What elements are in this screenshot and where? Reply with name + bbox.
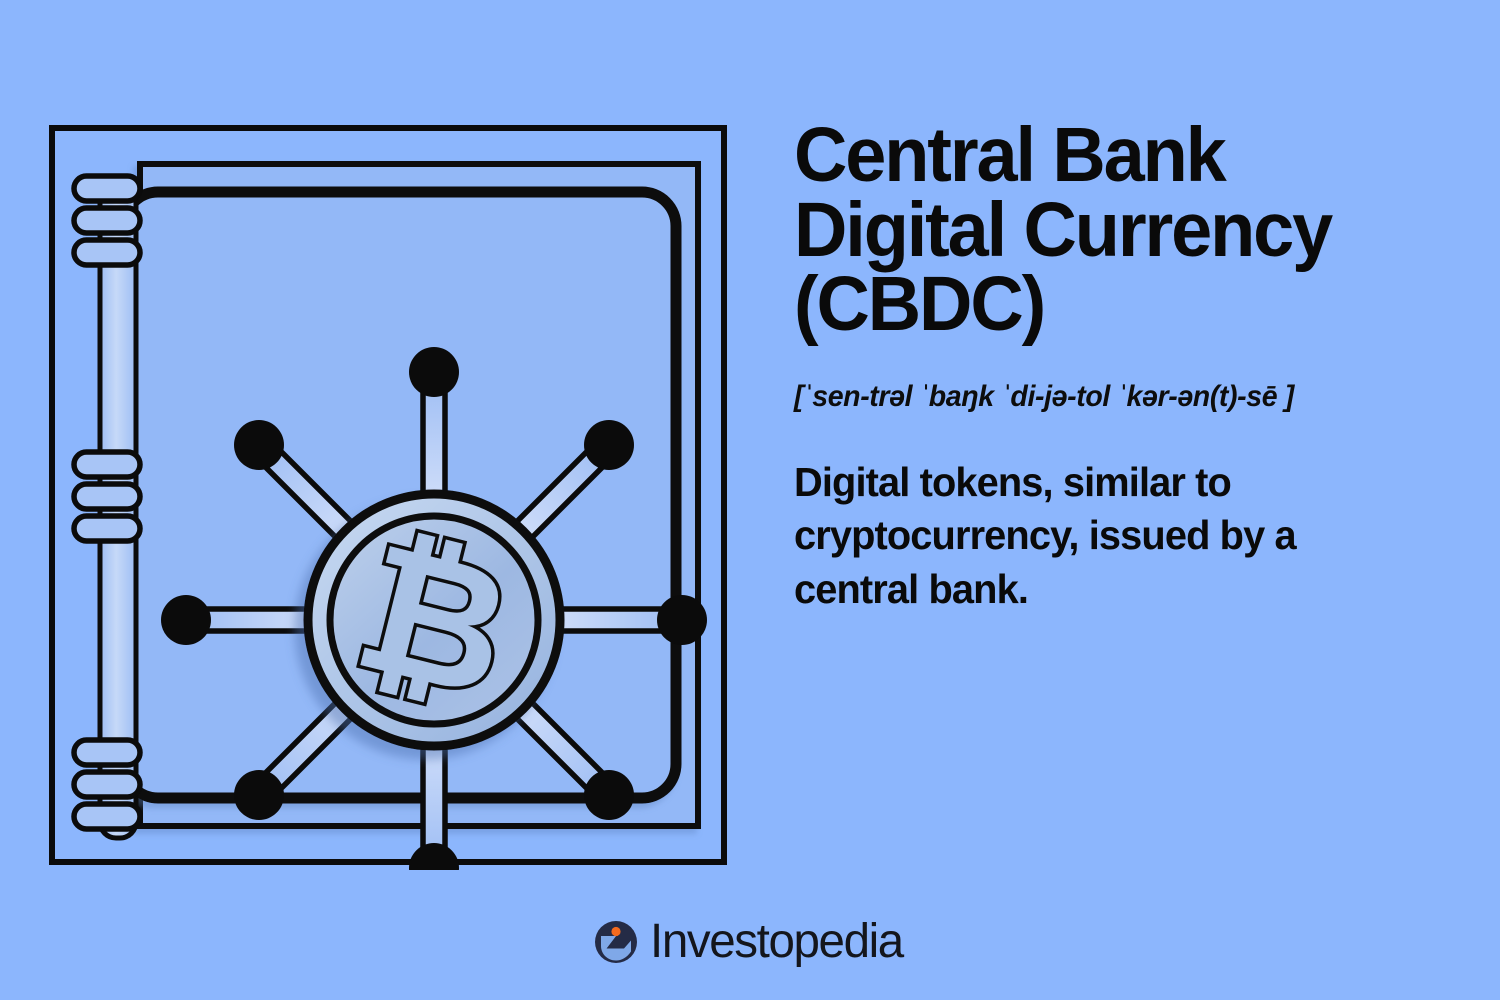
page-title: Central Bank Digital Currency (CBDC) bbox=[794, 118, 1428, 342]
network-node bbox=[584, 770, 634, 820]
investopedia-logo-icon bbox=[594, 920, 638, 964]
network-node bbox=[584, 420, 634, 470]
network-node bbox=[161, 595, 211, 645]
definition-text: Digital tokens, similar to cryptocurrenc… bbox=[794, 456, 1415, 616]
network-node bbox=[234, 420, 284, 470]
cbdc-network-book-illustration: ₿ bbox=[44, 120, 734, 870]
bitcoin-coin: ₿ bbox=[308, 494, 560, 746]
investopedia-logo[interactable]: Investopedia bbox=[0, 918, 1500, 966]
cbdc-definition-card: ₿ Central Bank Digital Currency (CBDC) [… bbox=[0, 0, 1500, 1000]
definition-text-column: Central Bank Digital Currency (CBDC) [ˈs… bbox=[794, 118, 1454, 616]
pronunciation-text: [ˈsen-trəl ˈbaŋk ˈdi-jə-tᴏl ˈkər-ən(t)-s… bbox=[794, 380, 1421, 414]
network-node bbox=[657, 595, 707, 645]
network-node bbox=[409, 347, 459, 397]
investopedia-wordmark: Investopedia bbox=[650, 918, 903, 966]
network-node bbox=[234, 770, 284, 820]
